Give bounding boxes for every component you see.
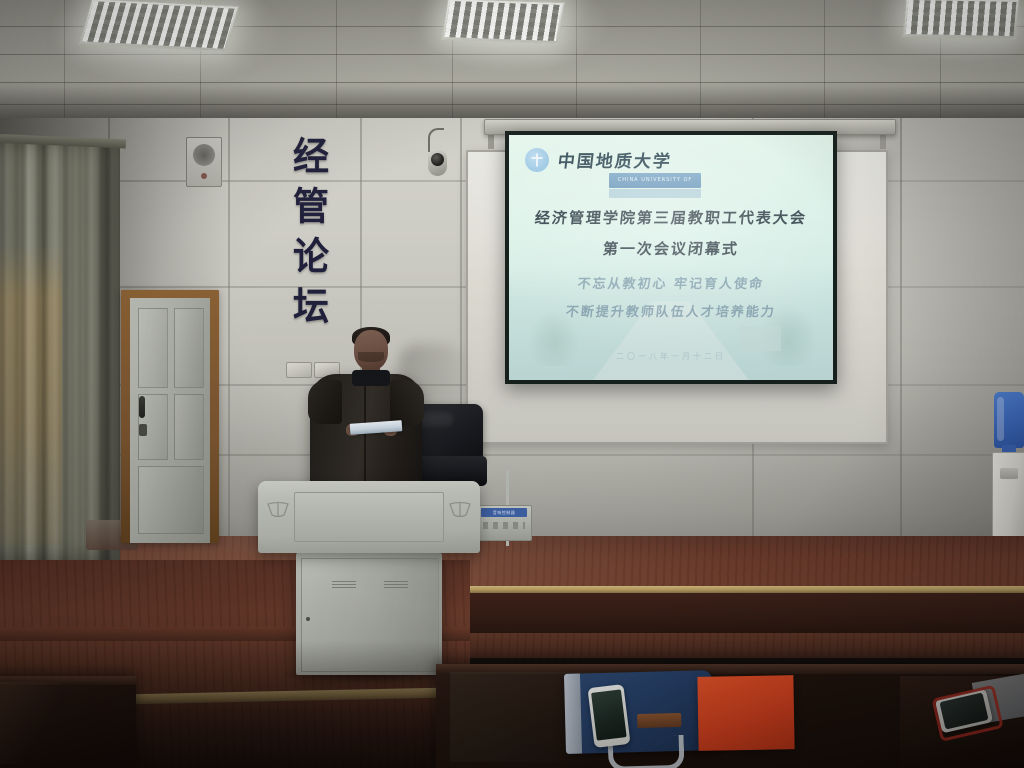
door-lock[interactable] [139,424,147,436]
smartphone-white[interactable] [587,684,630,748]
curtain-folds [0,140,120,560]
podium-lectern [258,481,480,553]
projection-screen: 中国地质大学 CHINA UNIVERSITY OF GEOSCIENCES 经… [505,131,837,384]
screen-bracket [488,133,494,149]
ceiling-shadow [0,86,1024,122]
door-handle[interactable] [139,396,145,418]
ceiling-light-panel-3 [902,0,1019,39]
ceiling-light-panel-1 [79,0,240,52]
podium-emblem-icon [267,501,289,518]
conference-room-photo: 经 管 论 坛 [0,0,1024,768]
room-door[interactable] [130,298,210,543]
orange-folder [697,675,794,751]
screen-bracket [880,133,886,149]
podium-emblem-icon [449,501,471,518]
ceiling-light-panel-2 [441,0,565,44]
equipment-label: 音响控制器 [481,508,527,517]
speaker-person [310,330,422,502]
table-left-sheen [0,682,60,764]
water-cooler [992,392,1024,544]
audio-equipment: 音响控制器 [478,505,532,541]
smartphone-red-case[interactable] [935,689,993,734]
podium-lock [306,617,310,621]
document-bag [564,670,714,754]
door-frame [121,290,219,543]
